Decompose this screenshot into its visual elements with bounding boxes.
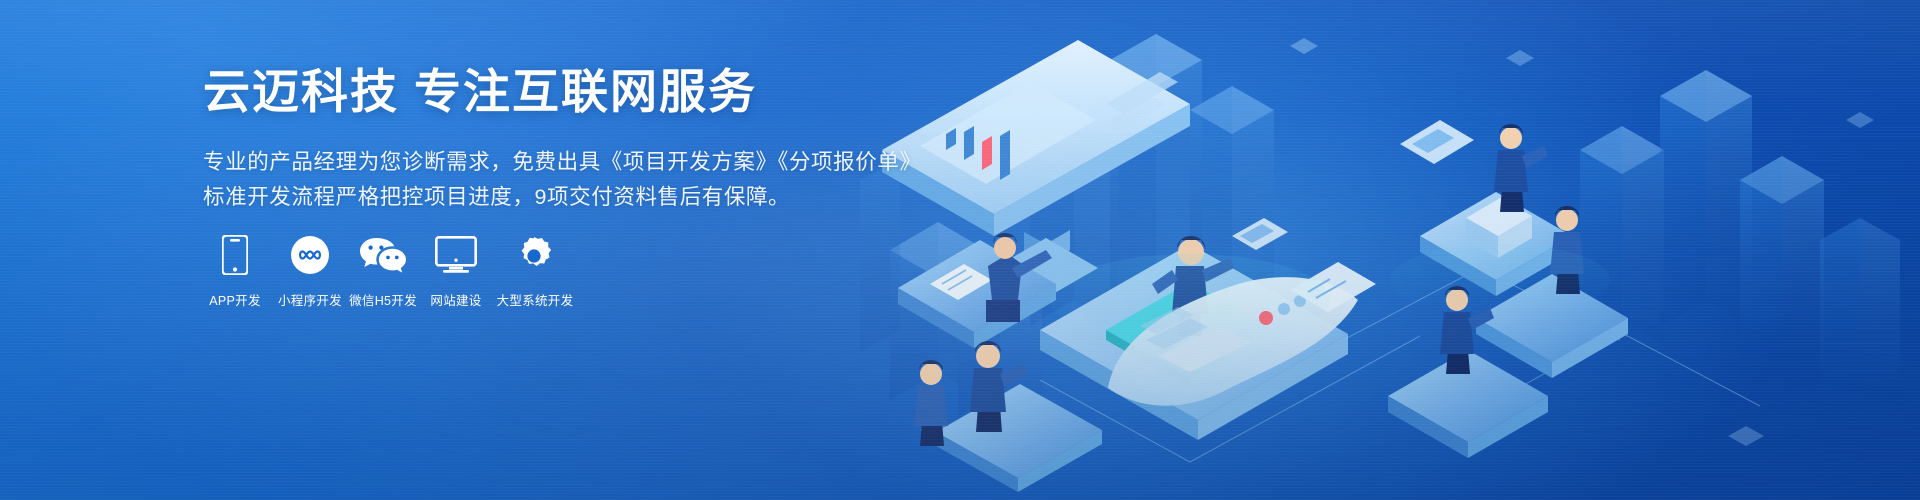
service-item-large-system[interactable]: 大型系统开发 [492, 232, 578, 308]
banner-copy: 云迈科技 专注互联网服务 专业的产品经理为您诊断需求，免费出具《项目开发方案》《… [203, 62, 963, 214]
mini-program-icon [290, 232, 330, 278]
page-title: 云迈科技 专注互联网服务 [203, 62, 963, 122]
monitor-icon [435, 232, 477, 278]
subtitle-line-2: 标准开发流程严格把控项目进度，9项交付资料售后有保障。 [203, 181, 963, 214]
subtitle-line-1: 专业的产品经理为您诊断需求，免费出具《项目开发方案》《分项报价单》 [203, 146, 963, 179]
gear-icon [515, 232, 555, 278]
service-label: 小程序开发 [278, 294, 342, 308]
service-label: 网站建设 [430, 294, 481, 308]
service-label: APP开发 [209, 294, 261, 308]
service-item-website[interactable]: 网站建设 [420, 232, 492, 308]
service-list: APP开发 小程序开发 微信 [196, 232, 578, 308]
mobile-phone-icon [222, 232, 248, 278]
hero-illustration [860, 0, 1920, 500]
service-item-app[interactable]: APP开发 [196, 232, 274, 308]
wechat-icon [360, 232, 406, 278]
service-label: 大型系统开发 [497, 294, 574, 308]
service-label: 微信H5开发 [349, 294, 417, 308]
promo-banner: 云迈科技 专注互联网服务 专业的产品经理为您诊断需求，免费出具《项目开发方案》《… [0, 0, 1920, 500]
service-item-wechat-h5[interactable]: 微信H5开发 [346, 232, 420, 308]
service-item-mini-program[interactable]: 小程序开发 [274, 232, 346, 308]
